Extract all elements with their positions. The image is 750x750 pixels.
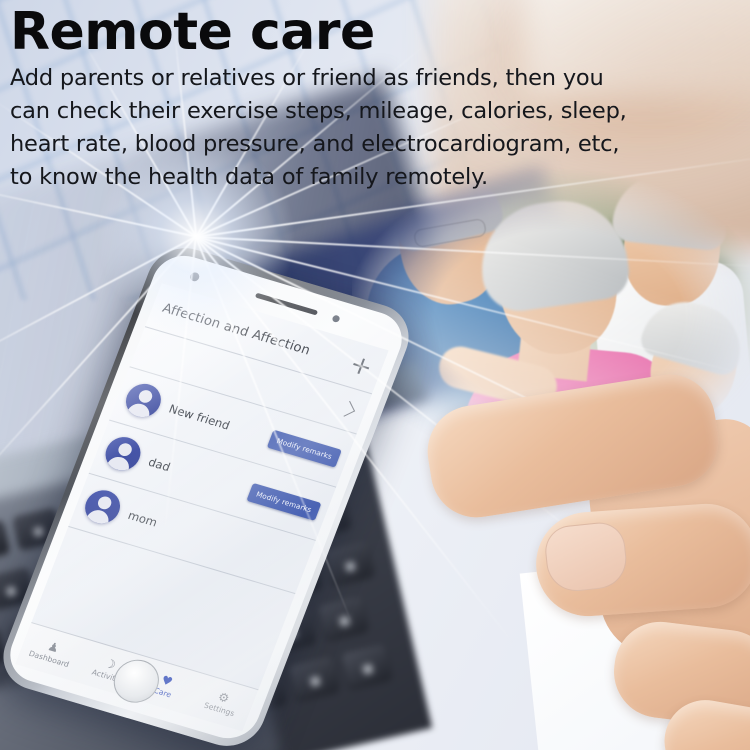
gear-icon: ⚙ <box>217 690 232 704</box>
description-line: can check their exercise steps, mileage,… <box>10 95 730 128</box>
heart-icon: ♥ <box>160 673 175 687</box>
modify-remarks-button[interactable]: Modify remarks <box>247 482 322 520</box>
earpiece-speaker <box>255 293 318 316</box>
description-line: to know the health data of family remote… <box>10 161 730 194</box>
person-avatar-icon <box>101 433 146 474</box>
hand-holding-phone <box>418 388 750 750</box>
front-camera-icon <box>189 271 201 282</box>
description-line: heart rate, blood pressure, and electroc… <box>10 128 730 161</box>
person-avatar-icon <box>121 380 166 421</box>
modify-remarks-button[interactable]: Modify remarks <box>267 429 342 467</box>
person-avatar-icon <box>80 486 125 527</box>
activity-icon: ☽ <box>103 657 118 671</box>
contact-name: mom <box>126 508 159 529</box>
contact-name: New friend <box>167 402 232 433</box>
contact-name: dad <box>146 455 172 474</box>
dashboard-icon: ♟ <box>46 640 61 654</box>
proximity-sensor-icon <box>331 314 340 323</box>
chevron-right-icon <box>339 401 355 417</box>
banner-text: Remote care Add parents or relatives or … <box>10 4 730 194</box>
description-line: Add parents or relatives or friend as fr… <box>10 62 730 95</box>
page-title: Remote care <box>10 4 730 60</box>
banner-description: Add parents or relatives or friend as fr… <box>10 62 730 194</box>
add-friend-icon[interactable] <box>348 354 374 378</box>
promo-banner: Affection and Affection New friend Modif… <box>0 0 750 750</box>
